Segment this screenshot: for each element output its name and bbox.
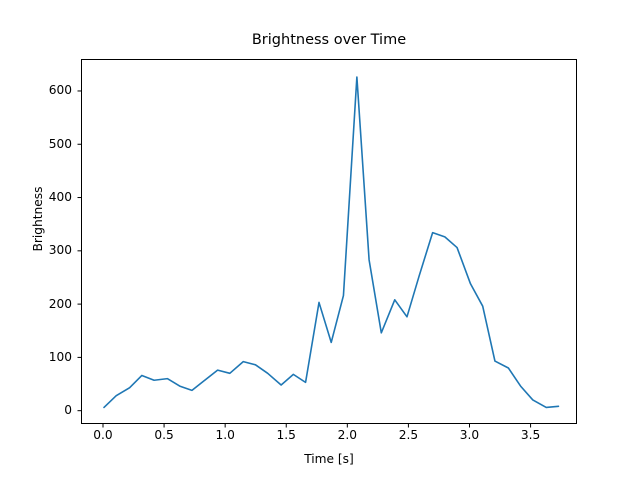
- y-tick-label: 200: [49, 298, 72, 310]
- y-tick-label: 0: [64, 404, 72, 416]
- x-tick-label: 1.0: [195, 429, 255, 441]
- y-tick-label-group: 0100200300400500600: [25, 0, 72, 480]
- x-tick-label: 0.5: [134, 429, 194, 441]
- x-tick-label: 3.5: [501, 429, 561, 441]
- chart-figure: Brightness over Time Brightness Time [s]…: [0, 0, 640, 480]
- x-tick-label: 2.0: [317, 429, 377, 441]
- x-tick-label: 0.0: [73, 429, 133, 441]
- y-tick-label: 300: [49, 244, 72, 256]
- y-tick-label: 400: [49, 191, 72, 203]
- x-tick-label: 2.5: [378, 429, 438, 441]
- x-tick-label: 3.0: [439, 429, 499, 441]
- plot-area: [81, 59, 577, 424]
- x-axis-label: Time [s]: [81, 452, 577, 466]
- chart-title: Brightness over Time: [81, 32, 577, 48]
- y-tick-label: 500: [49, 138, 72, 150]
- x-tick-label: 1.5: [256, 429, 316, 441]
- series-line-brightness: [104, 77, 558, 407]
- y-tick-label: 600: [49, 84, 72, 96]
- y-tick-label: 100: [49, 351, 72, 363]
- data-line-svg: [82, 60, 578, 425]
